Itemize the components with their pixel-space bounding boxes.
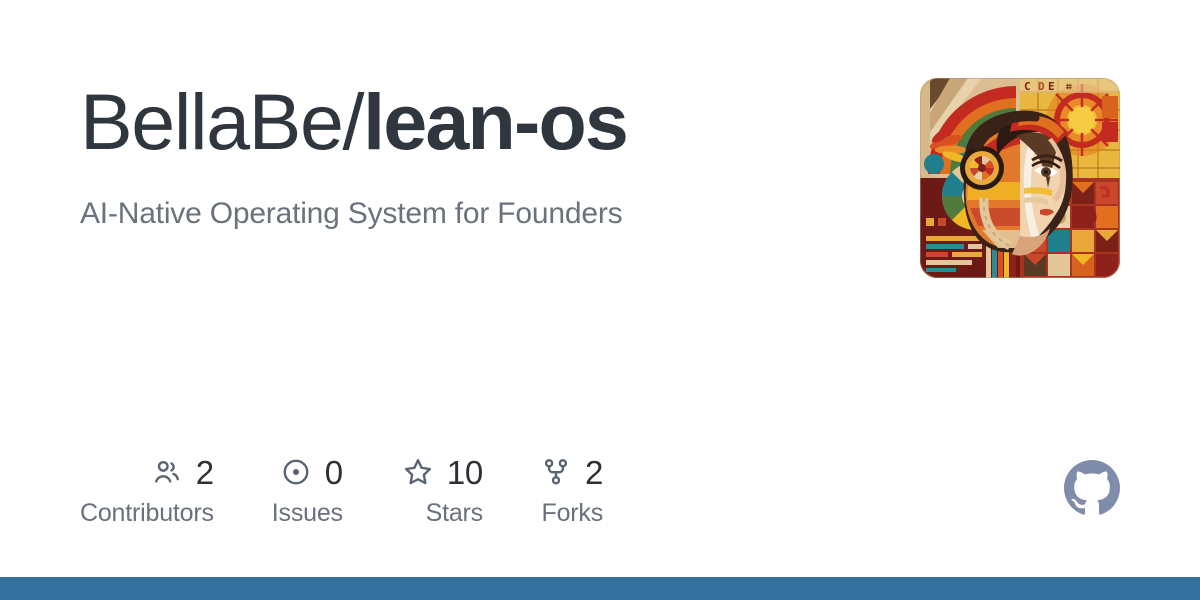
stat-issues-top: 0 xyxy=(281,452,343,492)
card-header: BellaBe/lean-os AI-Native Operating Syst… xyxy=(80,78,1120,278)
svg-text:⌗: ⌗ xyxy=(1065,82,1072,93)
repository-stats: 2 Contributors 0 Issues xyxy=(80,452,1120,526)
github-octocat-icon xyxy=(1064,460,1120,516)
repository-title: BellaBe/lean-os xyxy=(80,82,627,161)
repository-name: lean-os xyxy=(363,77,627,166)
stat-contributors: 2 Contributors xyxy=(80,452,214,526)
svg-text:E: E xyxy=(1048,80,1055,93)
stat-stars: 10 Stars xyxy=(403,452,483,526)
repository-description: AI-Native Operating System for Founders xyxy=(80,195,627,233)
issue-icon xyxy=(281,457,311,487)
repository-avatar: C D E ⌗ xyxy=(920,78,1120,278)
stat-issues: 0 Issues xyxy=(272,452,343,526)
stat-stars-top: 10 xyxy=(403,452,483,492)
stat-contributors-top: 2 xyxy=(152,452,214,492)
svg-text:C: C xyxy=(1024,80,1031,93)
star-icon xyxy=(403,457,433,487)
stat-contributors-value: 2 xyxy=(196,456,214,489)
bottom-accent-bar xyxy=(0,577,1200,600)
stat-stars-label: Stars xyxy=(426,501,483,526)
title-block: BellaBe/lean-os AI-Native Operating Syst… xyxy=(80,78,627,233)
stat-issues-label: Issues xyxy=(272,501,343,526)
stat-stars-value: 10 xyxy=(447,456,483,489)
stat-forks: 2 Forks xyxy=(541,452,603,526)
repository-separator: / xyxy=(343,77,364,166)
stat-contributors-label: Contributors xyxy=(80,501,214,526)
fork-icon xyxy=(541,457,571,487)
people-icon xyxy=(152,457,182,487)
svg-text:D: D xyxy=(1038,80,1045,93)
stat-forks-label: Forks xyxy=(542,501,604,526)
avatar-artwork-icon: C D E ⌗ xyxy=(920,78,1120,278)
stat-forks-value: 2 xyxy=(585,456,603,489)
repository-owner: BellaBe xyxy=(80,77,343,166)
stat-forks-top: 2 xyxy=(541,452,603,492)
stat-issues-value: 0 xyxy=(325,456,343,489)
github-social-preview-card: BellaBe/lean-os AI-Native Operating Syst… xyxy=(0,0,1200,600)
